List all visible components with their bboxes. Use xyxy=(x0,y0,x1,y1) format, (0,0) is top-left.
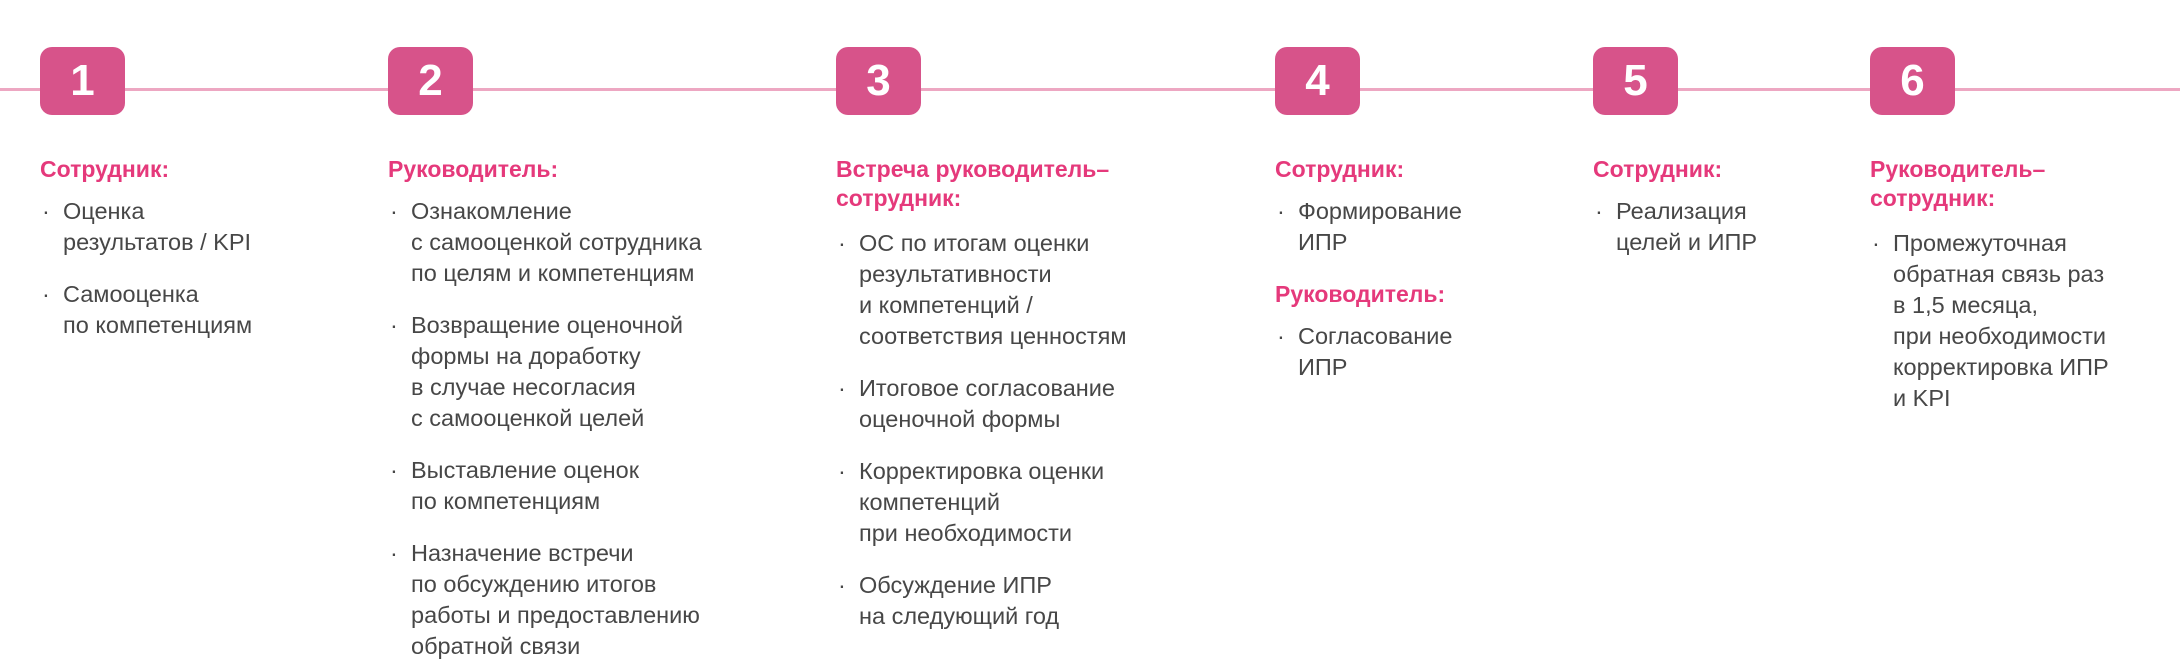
step-group: Руководитель: ·Ознакомление с самооценко… xyxy=(388,155,818,662)
bullet-dot-icon: · xyxy=(390,196,398,227)
group-title: Сотрудник: xyxy=(40,155,370,184)
step-number-badge-3[interactable]: 3 xyxy=(836,47,921,115)
bullet-dot-icon: · xyxy=(1595,196,1603,227)
group-title: Сотрудник: xyxy=(1275,155,1575,184)
list-item: ·Обсуждение ИПР на следующий год xyxy=(836,570,1256,632)
step-number-badge-6[interactable]: 6 xyxy=(1870,47,1955,115)
bullet-list: ·Реализация целей и ИПР xyxy=(1593,196,1863,258)
timeline-step-2: 2 Руководитель: ·Ознакомление с самооцен… xyxy=(388,0,818,650)
step-group: Сотрудник: ·Реализация целей и ИПР xyxy=(1593,155,1863,258)
list-item: ·Выставление оценок по компетенциям xyxy=(388,455,818,517)
step-group: Встреча руководитель– сотрудник: ·ОС по … xyxy=(836,155,1256,632)
step-content-6: Руководитель– сотрудник: ·Промежуточная … xyxy=(1870,155,2170,414)
bullet-dot-icon: · xyxy=(838,456,846,487)
list-item: ·Промежуточная обратная связь раз в 1,5 … xyxy=(1870,228,2170,414)
bullet-list: ·Формирование ИПР xyxy=(1275,196,1575,258)
list-item-text: Итоговое согласование оценочной формы xyxy=(859,375,1115,432)
list-item-text: Реализация целей и ИПР xyxy=(1616,198,1757,255)
timeline-step-6: 6 Руководитель– сотрудник: ·Промежуточна… xyxy=(1870,0,2170,650)
step-content-2: Руководитель: ·Ознакомление с самооценко… xyxy=(388,155,818,662)
process-timeline-infographic: 1 Сотрудник: ·Оценка результатов / KPI ·… xyxy=(0,0,2180,650)
step-group: Сотрудник: ·Оценка результатов / KPI ·Са… xyxy=(40,155,370,341)
list-item: ·Оценка результатов / KPI xyxy=(40,196,370,258)
step-number-badge-2[interactable]: 2 xyxy=(388,47,473,115)
list-item-text: Выставление оценок по компетенциям xyxy=(411,457,639,514)
list-item: ·ОС по итогам оценки результативности и … xyxy=(836,228,1256,352)
list-item-text: Промежуточная обратная связь раз в 1,5 м… xyxy=(1893,230,2109,411)
group-title: Руководитель: xyxy=(388,155,818,184)
timeline-step-4: 4 Сотрудник: ·Формирование ИПР Руководит… xyxy=(1275,0,1575,650)
bullet-dot-icon: · xyxy=(42,279,50,310)
bullet-dot-icon: · xyxy=(390,538,398,569)
list-item-text: ОС по итогам оценки результативности и к… xyxy=(859,230,1126,349)
timeline-step-3: 3 Встреча руководитель– сотрудник: ·ОС п… xyxy=(836,0,1256,650)
list-item: ·Возвращение оценочной формы на доработк… xyxy=(388,310,818,434)
list-item-text: Самооценка по компетенциям xyxy=(63,281,252,338)
bullet-dot-icon: · xyxy=(838,228,846,259)
list-item: ·Самооценка по компетенциям xyxy=(40,279,370,341)
list-item: ·Формирование ИПР xyxy=(1275,196,1575,258)
bullet-list: ·ОС по итогам оценки результативности и … xyxy=(836,228,1256,632)
bullet-list: ·Согласование ИПР xyxy=(1275,321,1575,383)
group-title: Руководитель: xyxy=(1275,280,1575,309)
list-item: ·Реализация целей и ИПР xyxy=(1593,196,1863,258)
bullet-list: ·Оценка результатов / KPI ·Самооценка по… xyxy=(40,196,370,341)
list-item: ·Итоговое согласование оценочной формы xyxy=(836,373,1256,435)
bullet-dot-icon: · xyxy=(838,373,846,404)
bullet-dot-icon: · xyxy=(1277,196,1285,227)
list-item: ·Согласование ИПР xyxy=(1275,321,1575,383)
bullet-dot-icon: · xyxy=(1872,228,1880,259)
group-title: Сотрудник: xyxy=(1593,155,1863,184)
step-number-badge-5[interactable]: 5 xyxy=(1593,47,1678,115)
bullet-dot-icon: · xyxy=(42,196,50,227)
timeline-steps: 1 Сотрудник: ·Оценка результатов / KPI ·… xyxy=(0,0,2180,650)
list-item-text: Обсуждение ИПР на следующий год xyxy=(859,572,1059,629)
bullet-dot-icon: · xyxy=(1277,321,1285,352)
list-item-text: Ознакомление с самооценкой сотрудника по… xyxy=(411,198,702,286)
list-item-text: Корректировка оценки компетенций при нео… xyxy=(859,458,1104,546)
bullet-list: ·Промежуточная обратная связь раз в 1,5 … xyxy=(1870,228,2170,414)
list-item: ·Назначение встречи по обсуждению итогов… xyxy=(388,538,818,662)
list-item-text: Возвращение оценочной формы на доработку… xyxy=(411,312,683,431)
step-number-badge-1[interactable]: 1 xyxy=(40,47,125,115)
list-item-text: Формирование ИПР xyxy=(1298,198,1462,255)
bullet-dot-icon: · xyxy=(390,310,398,341)
step-content-1: Сотрудник: ·Оценка результатов / KPI ·Са… xyxy=(40,155,370,341)
list-item-text: Назначение встречи по обсуждению итогов … xyxy=(411,540,700,659)
list-item-text: Оценка результатов / KPI xyxy=(63,198,251,255)
bullet-list: ·Ознакомление с самооценкой сотрудника п… xyxy=(388,196,818,662)
timeline-step-1: 1 Сотрудник: ·Оценка результатов / KPI ·… xyxy=(40,0,370,650)
group-title: Встреча руководитель– сотрудник: xyxy=(836,155,1256,213)
step-content-5: Сотрудник: ·Реализация целей и ИПР xyxy=(1593,155,1863,258)
step-content-4: Сотрудник: ·Формирование ИПР Руководител… xyxy=(1275,155,1575,383)
list-item: ·Ознакомление с самооценкой сотрудника п… xyxy=(388,196,818,289)
list-item-text: Согласование ИПР xyxy=(1298,323,1452,380)
group-title: Руководитель– сотрудник: xyxy=(1870,155,2170,213)
bullet-dot-icon: · xyxy=(838,570,846,601)
step-content-3: Встреча руководитель– сотрудник: ·ОС по … xyxy=(836,155,1256,632)
step-group: Руководитель: ·Согласование ИПР xyxy=(1275,280,1575,383)
timeline-step-5: 5 Сотрудник: ·Реализация целей и ИПР xyxy=(1593,0,1863,650)
list-item: ·Корректировка оценки компетенций при не… xyxy=(836,456,1256,549)
step-number-badge-4[interactable]: 4 xyxy=(1275,47,1360,115)
bullet-dot-icon: · xyxy=(390,455,398,486)
step-group: Руководитель– сотрудник: ·Промежуточная … xyxy=(1870,155,2170,414)
step-group: Сотрудник: ·Формирование ИПР xyxy=(1275,155,1575,258)
